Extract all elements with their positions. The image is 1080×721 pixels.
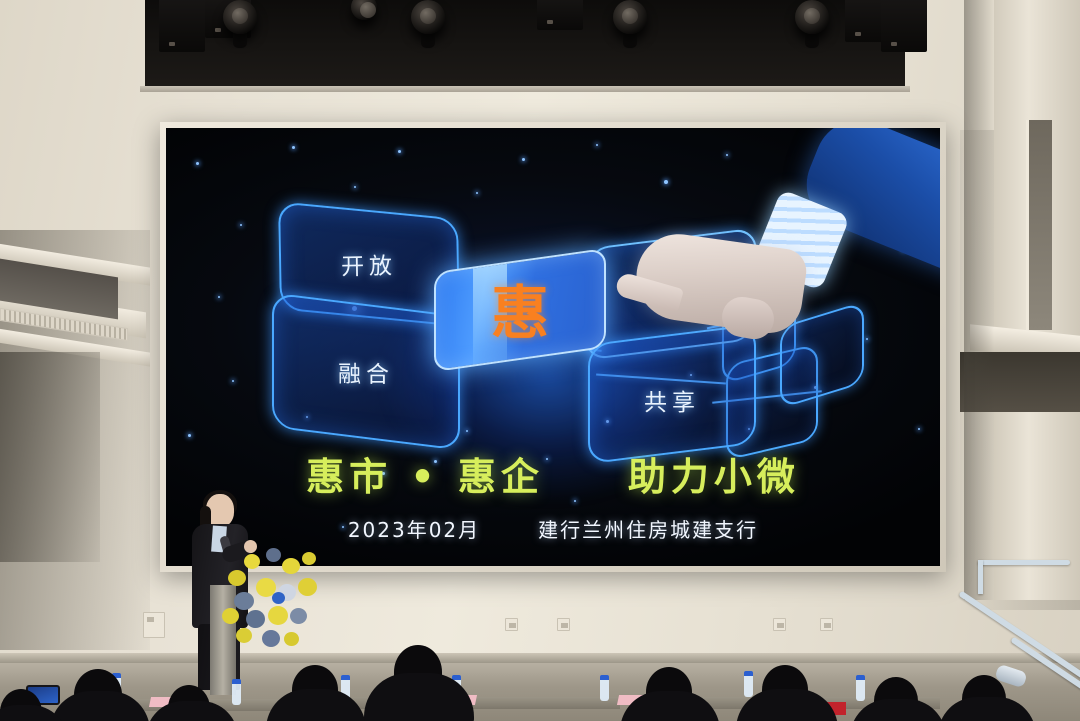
slide-footer: 2023年02月 建行兰州住房城建支行 [166,514,940,543]
diagram-card-share: 共享 [588,324,756,465]
ceiling-spotlight [351,0,377,20]
ceiling-spotlight [795,0,829,34]
slide-date: 2023年02月 [348,514,480,543]
projection-screen-frame: 开放 融合 普惠 共享 惠 惠市 • 惠企 助 [160,122,946,572]
ceiling-speaker [881,0,927,52]
wall-outlet [143,612,165,638]
slide-organization: 建行兰州住房城建支行 [538,514,758,543]
wall-outlet [505,618,518,631]
right-wall-recess [1026,120,1052,330]
ceiling-panel [145,0,905,88]
water-bottle [232,679,241,705]
ceiling-spotlight [613,0,647,34]
ceiling-spotlight [411,0,445,34]
diagram-card-share-label: 共享 [644,383,700,417]
diagram-card-fusion: 融合 [272,292,460,450]
headline-left: 惠市 • 惠企 [306,446,544,501]
wall-outlet [820,618,833,631]
wall-shade-left-lower [0,352,100,562]
stair-handrail-post [978,560,983,594]
ceiling-spotlight [223,0,257,34]
stair-handrail-top [978,560,1070,565]
baseboard-trim [0,653,1080,663]
headline-right: 助力小微 [628,446,800,501]
ceiling-trim [140,86,910,92]
water-bottle [856,675,865,701]
wall-outlet [557,618,570,631]
slide-headline: 惠市 • 惠企 助力小微 [166,446,940,501]
water-bottle [744,671,753,697]
right-pillar-shadow [964,0,994,600]
wall-outlet [773,618,786,631]
water-bottle [600,675,609,701]
screenshot-root: 开放 融合 普惠 共享 惠 惠市 • 惠企 助 [0,0,1080,721]
ceiling-speaker [159,0,205,52]
diagram-card-open-label: 开放 [341,246,397,281]
diagram-card-fusion-label: 融合 [338,354,394,388]
projection-screen: 开放 融合 普惠 共享 惠 惠市 • 惠企 助 [166,128,940,566]
floral-arrangement [222,548,332,652]
ceiling-speaker [537,0,583,30]
hui-brand-glyph: 惠 [491,266,549,350]
